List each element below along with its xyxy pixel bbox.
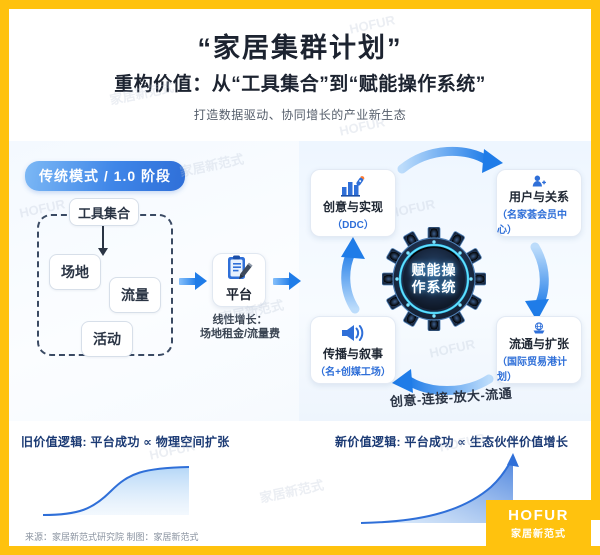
bar-chart-rocket-icon: [340, 175, 366, 197]
hub-label-line2: 作系统: [412, 279, 457, 296]
arrow-right-icon: [179, 272, 209, 290]
node-subtitle: （国际贸易港计划）: [497, 353, 581, 383]
node-title: 创意与实现: [323, 198, 383, 215]
globe-ship-icon: [526, 322, 552, 334]
node-subtitle: （名+创媒工场）: [315, 363, 391, 378]
node-subtitle: （名家荟会员中心）: [497, 206, 581, 236]
new-value-logic-label: 新价值逻辑: 平台成功 ∝ 生态伙伴价值增长: [335, 433, 568, 450]
platform-card: 平台: [212, 253, 266, 307]
tool-collection-label: 工具集合: [69, 198, 139, 226]
node-title: 用户与关系: [509, 188, 569, 205]
logo-text-cn: 家居新范式: [511, 525, 566, 540]
hub-label-line1: 赋能操: [412, 262, 457, 279]
page-description: 打造数据驱动、协同增长的产业新生态: [9, 106, 591, 123]
watermark: 家居新范式: [178, 148, 246, 180]
diagram-canvas: 传统模式 / 1.0 阶段 工具集合 场地 流量 活动: [9, 141, 591, 421]
page-title: “家居集群计划”: [9, 26, 591, 65]
hub-label: 赋能操 作系统: [382, 227, 486, 331]
frame-left-bar: [0, 0, 9, 555]
clipboard-pencil-icon: [224, 254, 254, 284]
header: “家居集群计划” 重构价值：从“工具集合”到“赋能操作系统” 打造数据驱动、协同…: [9, 9, 591, 141]
traditional-mode-badge: 传统模式 / 1.0 阶段: [25, 161, 185, 191]
platform-caption-line1: 线性增长：: [185, 313, 295, 327]
chip-venue: 场地: [49, 254, 101, 290]
watermark: 家居新范式: [258, 474, 326, 506]
page-subtitle: 重构价值：从“工具集合”到“赋能操作系统”: [9, 69, 591, 96]
old-value-chart: [39, 459, 219, 519]
user-plus-icon: [526, 175, 552, 187]
frame-top-bar: [0, 0, 600, 9]
logo-text-en: HOFUR: [508, 507, 569, 524]
old-value-logic-label: 旧价值逻辑: 平台成功 ∝ 物理空间扩张: [21, 433, 230, 450]
platform-caption: 线性增长： 场地租金/流量费: [185, 313, 295, 341]
node-circulation-expansion[interactable]: 流通与扩张 （国际贸易港计划）: [496, 316, 582, 384]
platform-label: 平台: [226, 284, 252, 303]
frame-bottom-bar: [0, 546, 600, 555]
megaphone-icon: [340, 322, 366, 344]
infographic-root: “家居集群计划” 重构价值：从“工具集合”到“赋能操作系统” 打造数据驱动、协同…: [0, 0, 600, 555]
source-note: 来源：家居新范式研究院 制图：家居新范式: [25, 530, 199, 543]
platform-caption-line2: 场地租金/流量费: [185, 327, 295, 341]
comparison-section: 旧价值逻辑: 平台成功 ∝ 物理空间扩张 新价值逻辑: 平台成功 ∝ 生态伙伴价…: [9, 421, 591, 546]
node-subtitle: （DDC）: [332, 216, 374, 231]
hofur-logo: HOFUR 家居新范式: [486, 500, 591, 546]
enabling-os-hub: 赋能操 作系统: [382, 227, 486, 331]
chip-activity: 活动: [81, 321, 133, 357]
node-title: 流通与扩张: [509, 335, 569, 352]
node-users-relations[interactable]: 用户与关系 （名家荟会员中心）: [496, 169, 582, 237]
frame-right-bar: [591, 0, 600, 520]
chip-traffic: 流量: [109, 277, 161, 313]
arrow-down-icon: [102, 226, 104, 250]
node-title: 传播与叙事: [323, 345, 383, 362]
